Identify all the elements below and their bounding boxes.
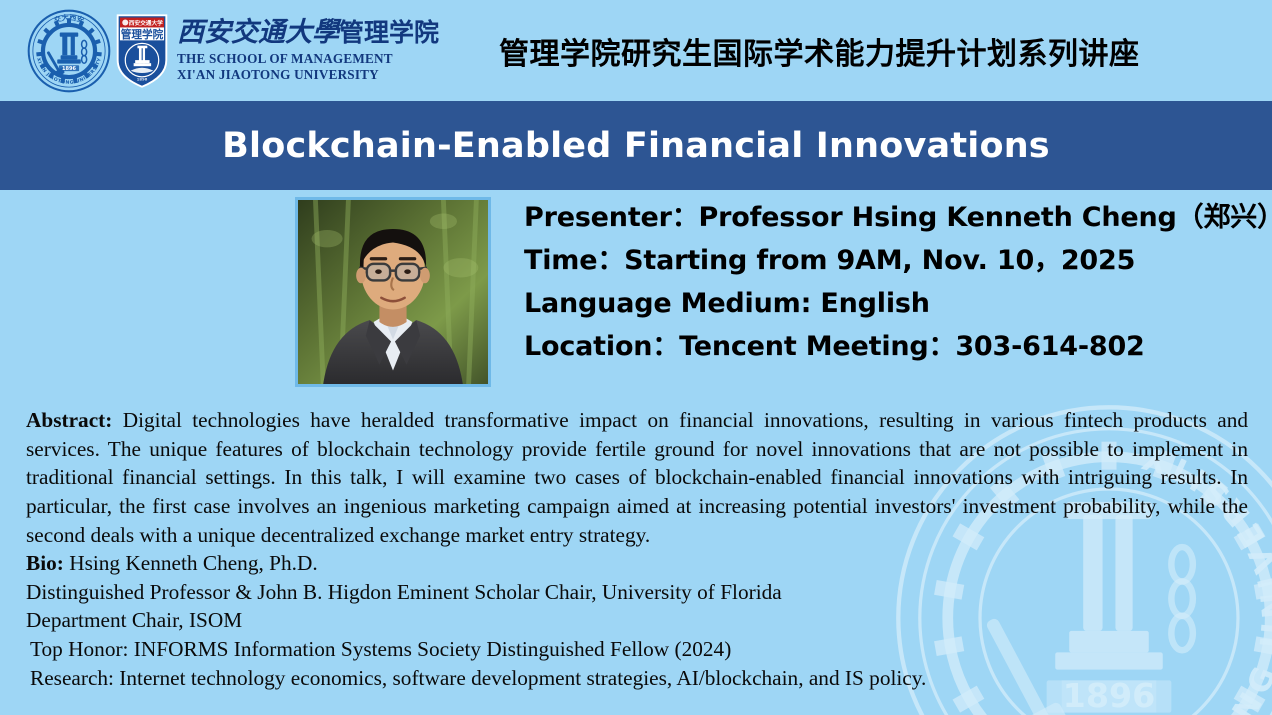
svg-text:1896: 1896 [137, 76, 148, 81]
svg-text:1896: 1896 [62, 65, 77, 71]
school-name-cn: 西安交通大學 [177, 17, 339, 48]
lecture-title-band: Blockchain-Enabled Financial Innovations [0, 101, 1272, 190]
bio-affiliation-line: Distinguished Professor & John B. Higdon… [26, 578, 1248, 607]
xjtu-seal-icon: 1896 交大西安 XI'AN JIAOTONG UNIVERSITY [27, 9, 111, 93]
svg-text:管理学院: 管理学院 [121, 28, 164, 41]
abstract-label: Abstract: [26, 408, 112, 432]
school-name-en-line2: XI'AN JIAOTONG UNIVERSITY [177, 67, 439, 83]
poster-header: 1896 交大西安 XI'AN JIAOTONG UNIVERSITY 西安交通… [0, 0, 1272, 101]
school-of-management-shield-icon: 西安交通大学 管理学院 1896 [115, 13, 169, 89]
language-line: Language Medium: English [524, 290, 1244, 317]
school-name-en-line1: THE SCHOOL OF MANAGEMENT [177, 51, 439, 67]
bio-name: Hsing Kenneth Cheng, Ph.D. [64, 551, 318, 575]
bio-department-line: Department Chair, ISOM [26, 606, 1248, 635]
lecture-poster: 1896 XI'AN JIAOTONG UNIVERSITY [0, 0, 1272, 715]
speaker-details: Presenter：Professor Hsing Kenneth Cheng（… [524, 204, 1244, 376]
series-title: 管理学院研究生国际学术能力提升计划系列讲座 [499, 29, 1140, 73]
speaker-info-row: Presenter：Professor Hsing Kenneth Cheng（… [0, 190, 1272, 402]
poster-body: Abstract: Digital technologies have hera… [26, 406, 1248, 692]
bio-honor-line: Top Honor: INFORMS Information Systems S… [26, 635, 1248, 664]
abstract-paragraph: Abstract: Digital technologies have hera… [26, 406, 1248, 549]
school-unit-cn: 管理学院 [339, 18, 439, 47]
presenter-line: Presenter：Professor Hsing Kenneth Cheng（… [524, 204, 1244, 231]
lecture-title: Blockchain-Enabled Financial Innovations [222, 126, 1050, 166]
school-wordmark: 西安交通大學管理学院 THE SCHOOL OF MANAGEMENT XI'A… [177, 19, 439, 82]
time-line: Time：Starting from 9AM, Nov. 10，2025 [524, 247, 1244, 274]
location-line: Location：Tencent Meeting：303-614-802 [524, 333, 1244, 360]
bio-name-line: Bio: Hsing Kenneth Cheng, Ph.D. [26, 549, 1248, 578]
bio-research-line: Research: Internet technology economics,… [26, 664, 1248, 693]
bio-label: Bio: [26, 551, 64, 575]
abstract-text: Digital technologies have heralded trans… [26, 408, 1248, 547]
presenter-portrait [295, 197, 491, 387]
